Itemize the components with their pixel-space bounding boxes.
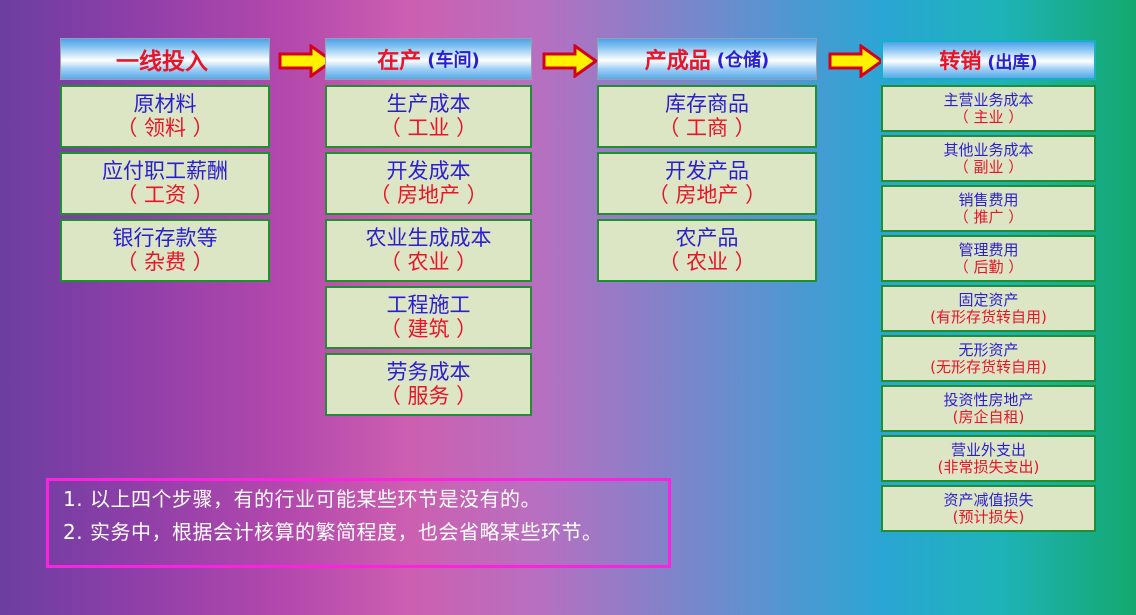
- item-box[interactable]: 工程施工 （ 建筑 ）: [325, 286, 532, 349]
- item-box[interactable]: 劳务成本 （ 服务 ）: [325, 353, 532, 416]
- stage-column-2: 在产 (车间) 生产成本 （ 工业 ） 开发成本 （ 房地产 ） 农业生成成本 …: [325, 38, 532, 420]
- item-subtitle: (有形存货转自用): [930, 309, 1047, 326]
- item-box[interactable]: 原材料 （ 领料 ）: [60, 85, 270, 148]
- item-subtitle: （ 副业 ）: [954, 159, 1024, 176]
- item-subtitle: （ 工业 ）: [380, 117, 477, 141]
- item-title: 固定资产: [958, 292, 1018, 309]
- item-title: 管理费用: [958, 242, 1018, 259]
- item-title: 主营业务成本: [943, 92, 1033, 109]
- item-title: 资产减值损失: [943, 492, 1033, 509]
- item-box[interactable]: 开发产品 （ 房地产 ）: [597, 152, 817, 215]
- item-subtitle: （ 杂费 ）: [116, 251, 213, 275]
- item-box[interactable]: 其他业务成本 （ 副业 ）: [881, 135, 1096, 182]
- stage-column-4: 转销 (出库) 主营业务成本 （ 主业 ） 其他业务成本 （ 副业 ） 销售费用…: [881, 40, 1096, 535]
- footnote-line: 1. 以上四个步骤，有的行业可能某些环节是没有的。: [63, 489, 654, 509]
- item-title: 其他业务成本: [943, 142, 1033, 159]
- item-title: 开发成本: [387, 160, 471, 184]
- item-subtitle: （ 农业 ）: [658, 251, 755, 275]
- item-box[interactable]: 库存商品 （ 工商 ）: [597, 85, 817, 148]
- column-2-header: 在产 (车间): [325, 38, 532, 80]
- footnote-box: 1. 以上四个步骤，有的行业可能某些环节是没有的。 2. 实务中，根据会计核算的…: [46, 478, 671, 568]
- item-title: 无形资产: [958, 342, 1018, 359]
- item-title: 库存商品: [665, 93, 749, 117]
- slide-canvas: 一线投入 原材料 （ 领料 ） 应付职工薪酬 （ 工资 ） 银行存款等 （ 杂费…: [0, 0, 1136, 615]
- item-subtitle: （ 农业 ）: [380, 251, 477, 275]
- item-title: 营业外支出: [951, 442, 1026, 459]
- item-box[interactable]: 开发成本 （ 房地产 ）: [325, 152, 532, 215]
- item-box[interactable]: 固定资产 (有形存货转自用): [881, 285, 1096, 332]
- item-subtitle: （ 后勤 ）: [954, 259, 1024, 276]
- item-box[interactable]: 投资性房地产 (房企自租): [881, 385, 1096, 432]
- item-box[interactable]: 营业外支出 (非常损失支出): [881, 435, 1096, 482]
- stage-column-3: 产成品 (仓储) 库存商品 （ 工商 ） 开发产品 （ 房地产 ） 农产品 （ …: [597, 38, 817, 286]
- item-subtitle: （ 主业 ）: [954, 109, 1024, 126]
- item-subtitle: (非常损失支出): [938, 459, 1040, 476]
- item-subtitle: （ 建筑 ）: [380, 318, 477, 342]
- item-box[interactable]: 销售费用 （ 推广 ）: [881, 185, 1096, 232]
- item-subtitle: （ 推广 ）: [954, 209, 1024, 226]
- column-1-header-main: 一线投入: [116, 42, 208, 76]
- item-box[interactable]: 主营业务成本 （ 主业 ）: [881, 85, 1096, 132]
- column-2-header-sub: (车间): [427, 46, 480, 72]
- stage-column-1: 一线投入 原材料 （ 领料 ） 应付职工薪酬 （ 工资 ） 银行存款等 （ 杂费…: [60, 38, 270, 286]
- item-title: 销售费用: [958, 192, 1018, 209]
- item-subtitle: (房企自租): [953, 409, 1025, 426]
- item-title: 投资性房地产: [943, 392, 1033, 409]
- item-title: 生产成本: [387, 93, 471, 117]
- item-box[interactable]: 农业生成成本 （ 农业 ）: [325, 219, 532, 282]
- column-3-header-sub: (仓储): [717, 46, 770, 72]
- flow-arrow-icon: [542, 44, 598, 78]
- column-3-header-main: 产成品: [645, 43, 711, 75]
- item-subtitle: （ 工商 ）: [658, 117, 755, 141]
- item-box[interactable]: 无形资产 (无形存货转自用): [881, 335, 1096, 382]
- item-box[interactable]: 管理费用 （ 后勤 ）: [881, 235, 1096, 282]
- item-box[interactable]: 银行存款等 （ 杂费 ）: [60, 219, 270, 282]
- item-subtitle: （ 房地产 ）: [369, 184, 487, 208]
- item-box[interactable]: 资产减值损失 (预计损失): [881, 485, 1096, 532]
- item-title: 农业生成成本: [366, 227, 492, 251]
- column-4-header: 转销 (出库): [881, 40, 1096, 80]
- item-title: 应付职工薪酬: [102, 160, 228, 184]
- item-title: 开发产品: [665, 160, 749, 184]
- item-subtitle: （ 领料 ）: [116, 117, 213, 141]
- column-2-header-main: 在产: [377, 43, 421, 75]
- item-title: 原材料: [134, 93, 197, 117]
- item-subtitle: （ 房地产 ）: [648, 184, 766, 208]
- item-subtitle: （ 服务 ）: [380, 385, 477, 409]
- item-subtitle: （ 工资 ）: [116, 184, 213, 208]
- item-title: 劳务成本: [387, 361, 471, 385]
- column-4-header-sub: (出库): [987, 48, 1037, 73]
- item-box[interactable]: 应付职工薪酬 （ 工资 ）: [60, 152, 270, 215]
- item-subtitle: (无形存货转自用): [930, 359, 1047, 376]
- item-title: 农产品: [676, 227, 739, 251]
- footnote-line: 2. 实务中，根据会计核算的繁简程度，也会省略某些环节。: [63, 522, 654, 542]
- item-title: 银行存款等: [113, 227, 218, 251]
- item-title: 工程施工: [387, 294, 471, 318]
- item-box[interactable]: 农产品 （ 农业 ）: [597, 219, 817, 282]
- flow-arrow-icon: [828, 44, 884, 78]
- item-subtitle: (预计损失): [953, 509, 1025, 526]
- column-4-header-main: 转销: [939, 45, 981, 75]
- column-3-header: 产成品 (仓储): [597, 38, 817, 80]
- item-box[interactable]: 生产成本 （ 工业 ）: [325, 85, 532, 148]
- column-1-header: 一线投入: [60, 38, 270, 80]
